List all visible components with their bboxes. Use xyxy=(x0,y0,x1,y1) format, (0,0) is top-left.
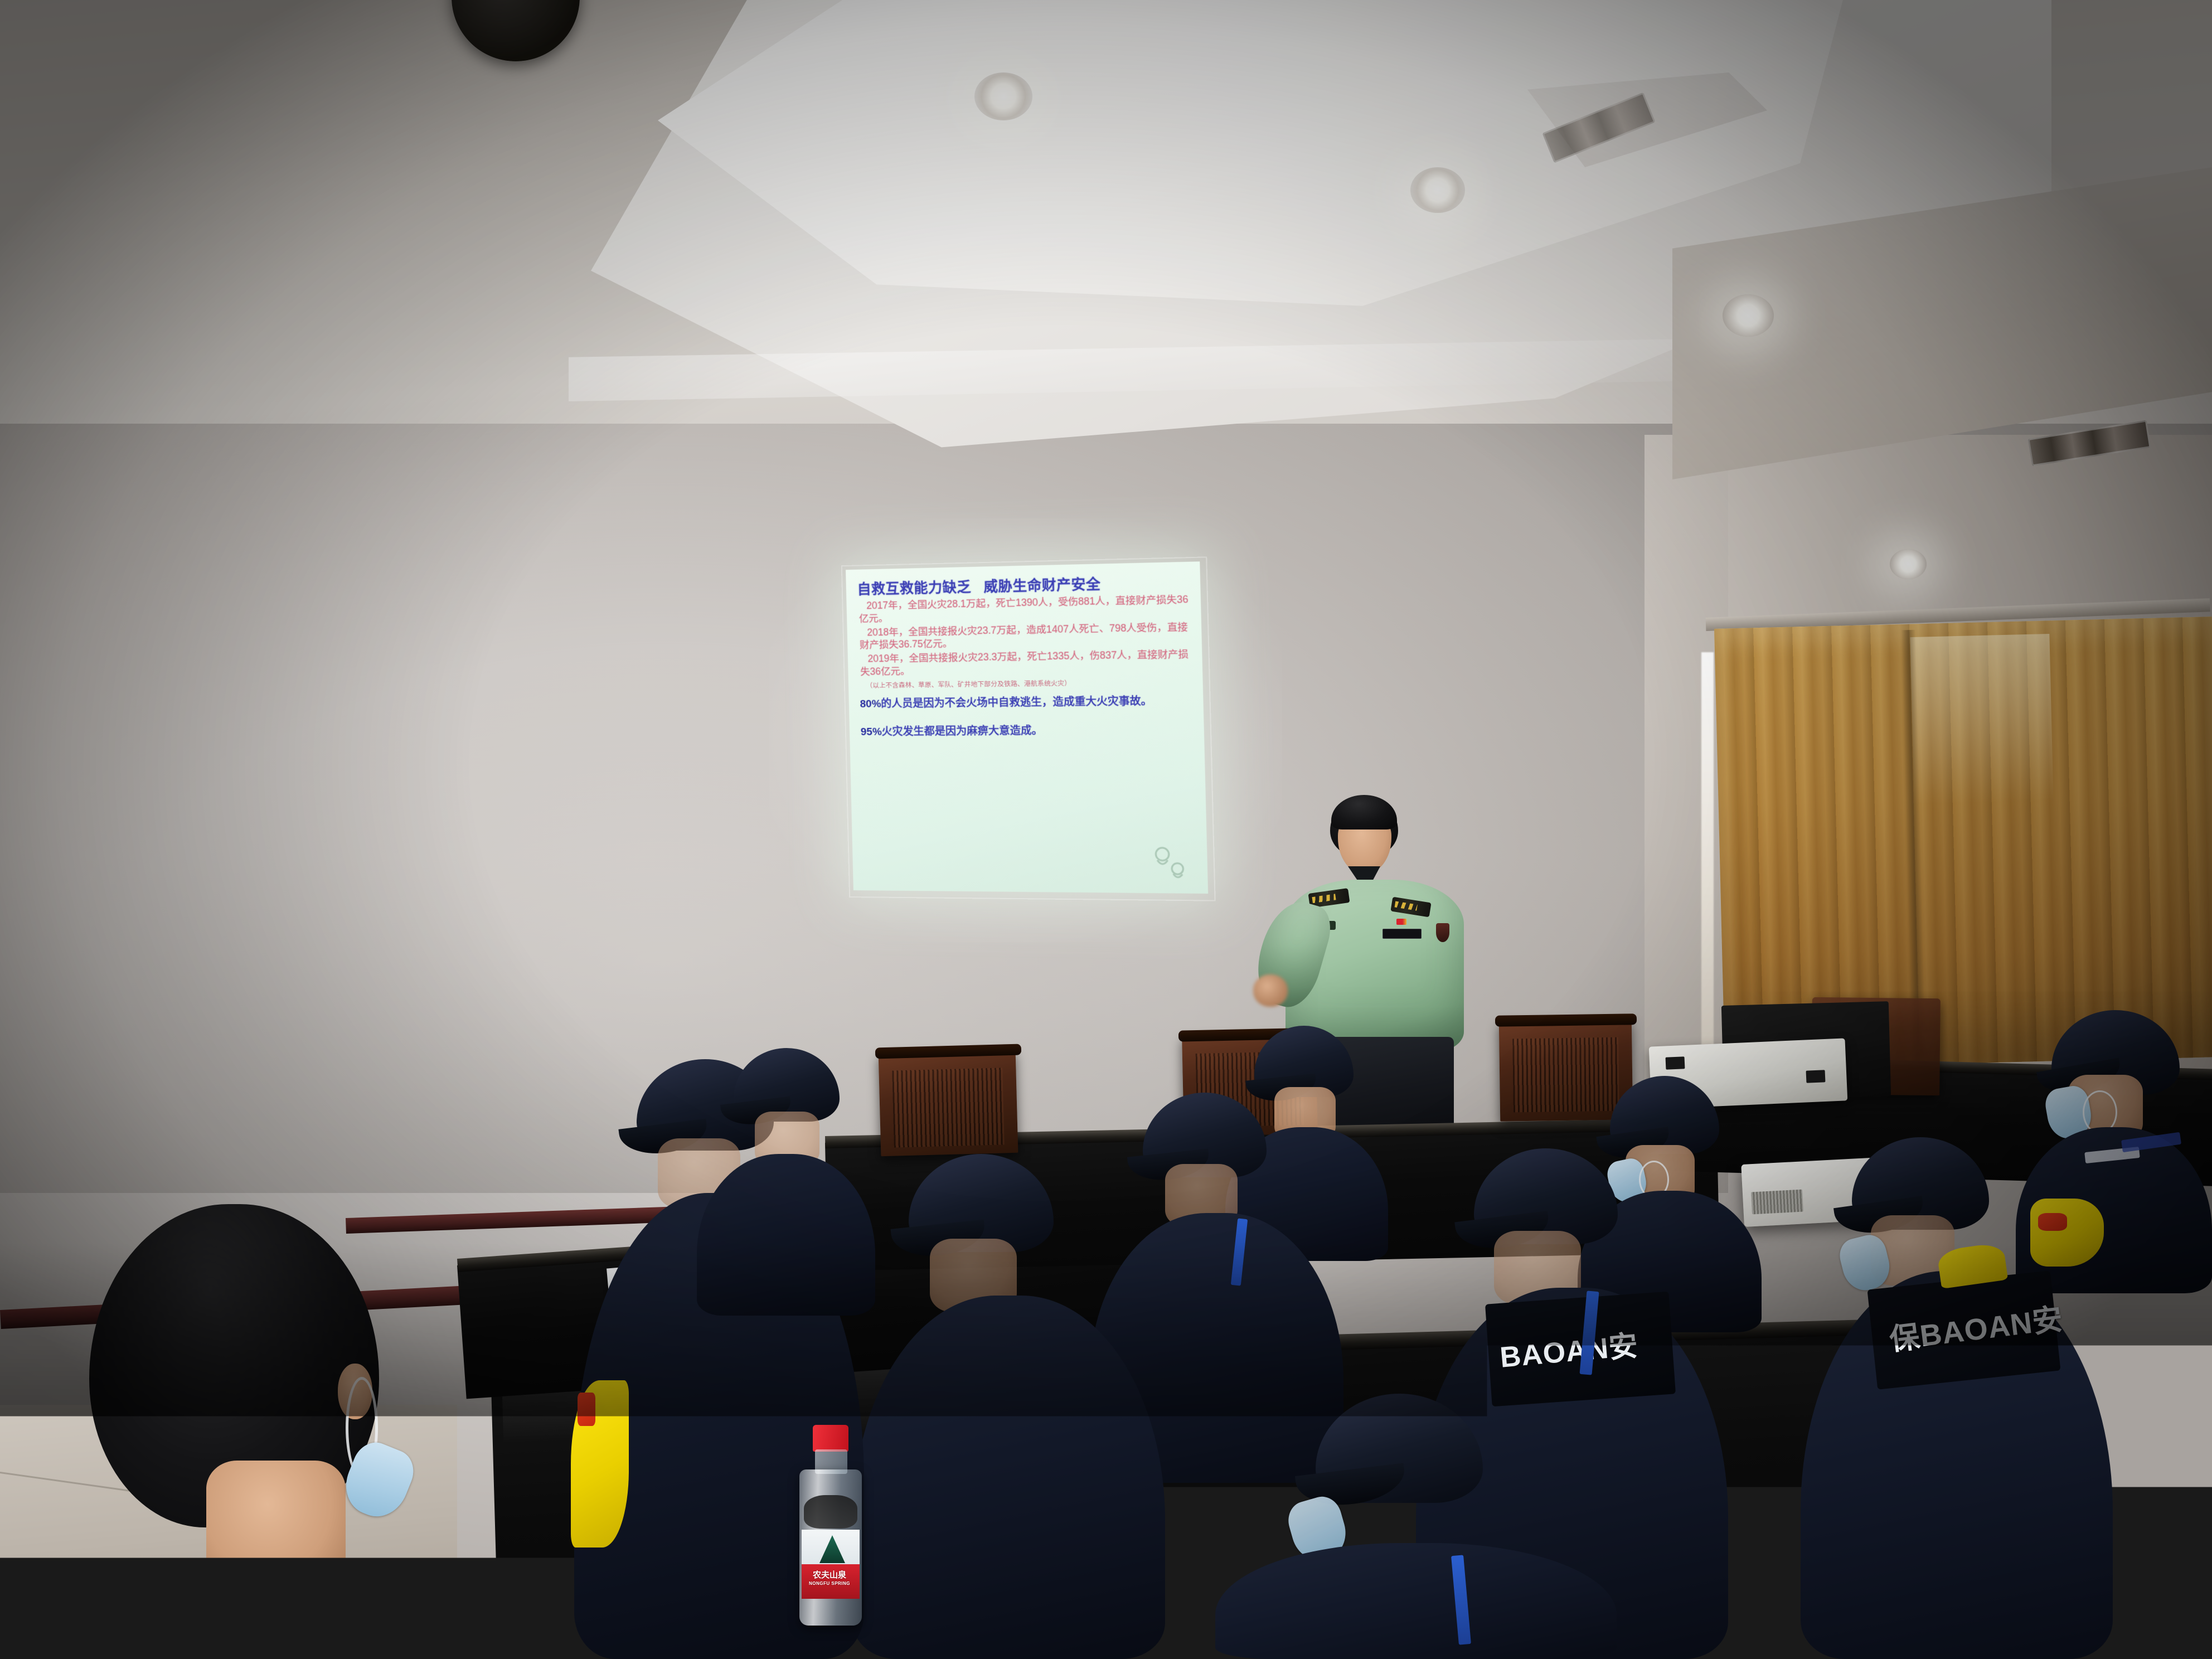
audience-7-jacket xyxy=(853,1296,1165,1659)
audience-member-front xyxy=(67,1204,502,1659)
audience-8-armband-text xyxy=(578,1393,595,1426)
downlight-3 xyxy=(1723,294,1774,337)
slide-watermark-icon xyxy=(1147,841,1192,884)
slide-point-95-text: 火灾发生都是因为麻痹大意造成。 xyxy=(881,725,1042,738)
slide-point-80: 80%的人员是因为不会火场中自救逃生，造成重大火灾事故。 xyxy=(860,695,1195,711)
right-edge-hand xyxy=(2058,1393,2121,1476)
audience-9-jacket xyxy=(697,1154,875,1316)
presenter-hair-top xyxy=(1331,795,1397,829)
chair-1-slats xyxy=(892,1068,1005,1147)
slide-title-left: 自救互救能力缺乏 xyxy=(857,579,971,598)
presenter-nametag xyxy=(1382,929,1422,939)
slide-point-95-pct: 95% xyxy=(861,726,882,738)
front-guard-jacket xyxy=(1215,1543,1617,1659)
audience-member-4: 保BAOAN安 xyxy=(1801,1137,2113,1659)
bottle-brand-en: NONGFU SPRING xyxy=(794,1581,865,1586)
slide-footnote: （以上不含森林、草原、军队、矿井地下部分及铁路、港航系统火灾） xyxy=(866,678,1195,690)
slide-stat-2019: 2019年，全国共接报火灾23.3万起，死亡1335人，伤837人，直接财产损失… xyxy=(860,648,1194,678)
projector-case-latch-right xyxy=(1806,1070,1826,1083)
audience-member-right-edge xyxy=(2096,1327,2212,1659)
presenter-flag-pin xyxy=(1396,919,1406,925)
slide-stat-2017: 2017年，全国火灾28.1万起，死亡1390人，受伤881人，直接财产损失36… xyxy=(858,593,1193,625)
curtain-highlight xyxy=(1910,634,2053,804)
slide-point-80-text: 的人员是因为不会火场中自救逃生，造成重大火灾事故。 xyxy=(881,696,1152,710)
chair-3-rail xyxy=(1495,1013,1637,1027)
presenter-hand xyxy=(1253,974,1288,1007)
slide-stat-2018: 2018年，全国共接报火灾23.7万起，造成1407人死亡、798人受伤，直接财… xyxy=(859,620,1194,652)
bottle-shoulder-dark xyxy=(804,1495,857,1529)
slide-point-95: 95%火灾发生都是因为麻痹大意造成。 xyxy=(861,724,1196,739)
downlight-1 xyxy=(974,72,1032,120)
projector-case-latch-left xyxy=(1666,1056,1685,1069)
bottle-brand-cn: 农夫山泉 xyxy=(794,1569,865,1580)
front-person-shirt xyxy=(67,1561,502,1659)
audience-member-7 xyxy=(853,1154,1165,1659)
presenter-shoulder-patch xyxy=(1436,923,1449,942)
audience-member-9 xyxy=(697,1048,875,1316)
slide-point-80-pct: 80% xyxy=(860,698,881,710)
window-light-slit xyxy=(1701,652,1714,1076)
audience-member-front-right xyxy=(1215,1394,1617,1659)
conference-room-photo: 自救互救能力缺乏威胁生命财产安全 2017年，全国火灾28.1万起，死亡1390… xyxy=(0,0,2212,1659)
water-bottle: 农夫山泉 NONGFU SPRING xyxy=(794,1425,865,1626)
projected-slide: 自救互救能力缺乏威胁生命财产安全 2017年，全国火灾28.1万起，死亡1390… xyxy=(846,561,1208,894)
slide-title-right: 威胁生命财产安全 xyxy=(983,576,1101,595)
downlight-2 xyxy=(1410,167,1465,213)
bottle-cap xyxy=(813,1425,848,1452)
downlight-4 xyxy=(1890,549,1927,579)
